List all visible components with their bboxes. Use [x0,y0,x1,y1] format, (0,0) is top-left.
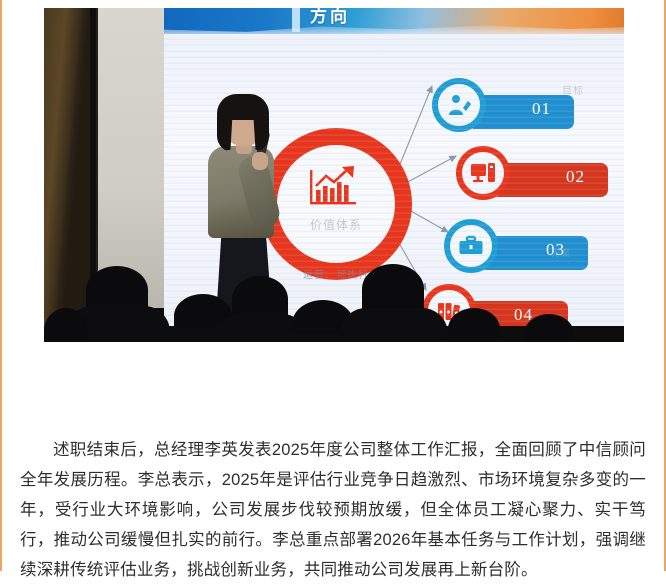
briefcase-icon [458,233,484,259]
slide-title-tab [292,8,300,32]
audience-head [362,264,424,314]
slide-item-02-bar [496,163,608,197]
article-body-text: 述职结束后，总经理李英发表2025年度公司整体工作汇报，全面回顾了中信顾问全年发… [20,435,646,585]
speaker-hair-top [217,94,269,120]
audience-shoulders [432,338,518,342]
photo-canvas: 方向 [44,8,624,342]
slide-ghost-text-right-2: 方案 [552,248,598,259]
audience-head [448,308,500,342]
computer-monitor-icon [470,160,496,186]
slide-banner [164,8,624,34]
slide-title: 方向 [310,8,350,27]
growth-bar-chart-icon [308,164,364,210]
slide-item-02-number: 02 [566,167,585,187]
person-with-pencil-icon [446,92,472,118]
presentation-photo: 方向 [44,8,624,342]
article-page: 方向 [0,0,666,571]
slide-ghost-text-right: 目标 [562,86,602,98]
slide-item-01-number: 01 [532,99,551,119]
speaker-hand [252,152,268,170]
whiteboard-panel [96,8,167,308]
slide-item-01-bar [472,95,574,129]
audience-shoulders [340,308,448,342]
